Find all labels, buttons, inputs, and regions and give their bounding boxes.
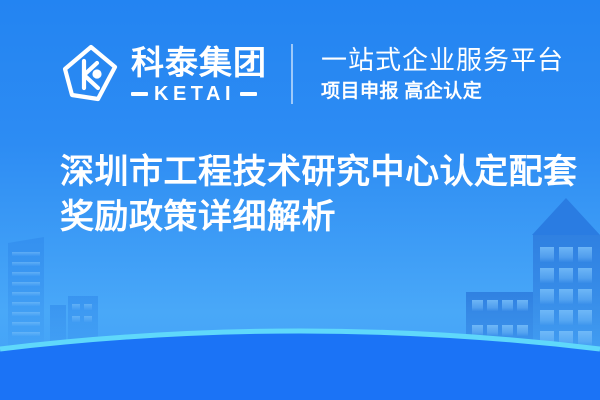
headline-line-1: 深圳市工程技术研究中心认定配套 [60,150,575,195]
headline-line-2: 奖励政策详细解析 [60,195,575,240]
promo-banner: 科泰集团 KETAI 一站式企业服务平台 项目申报 高企认定 深圳市工程技术研究… [0,0,600,400]
tagline-sub: 项目申报 高企认定 [321,79,564,104]
header-divider [291,44,293,104]
ketai-diamond-kp-mark [60,43,122,105]
brand-name-en-row: KETAI [131,83,267,105]
brand-name-cn: 科泰集团 [131,44,267,81]
brand-logo[interactable]: 科泰集团 KETAI [60,38,267,110]
page-title: 深圳市工程技术研究中心认定配套 奖励政策详细解析 [60,150,575,240]
brand-wordmark: 科泰集团 KETAI [131,44,267,105]
tagline-main: 一站式企业服务平台 [321,45,564,76]
wordmark-dash-right [240,92,257,96]
tagline-block: 一站式企业服务平台 项目申报 高企认定 [321,38,564,110]
brand-name-en: KETAI [148,83,240,105]
banner-header: 科泰集团 KETAI 一站式企业服务平台 项目申报 高企认定 [60,36,564,112]
wordmark-dash-left [131,92,148,96]
